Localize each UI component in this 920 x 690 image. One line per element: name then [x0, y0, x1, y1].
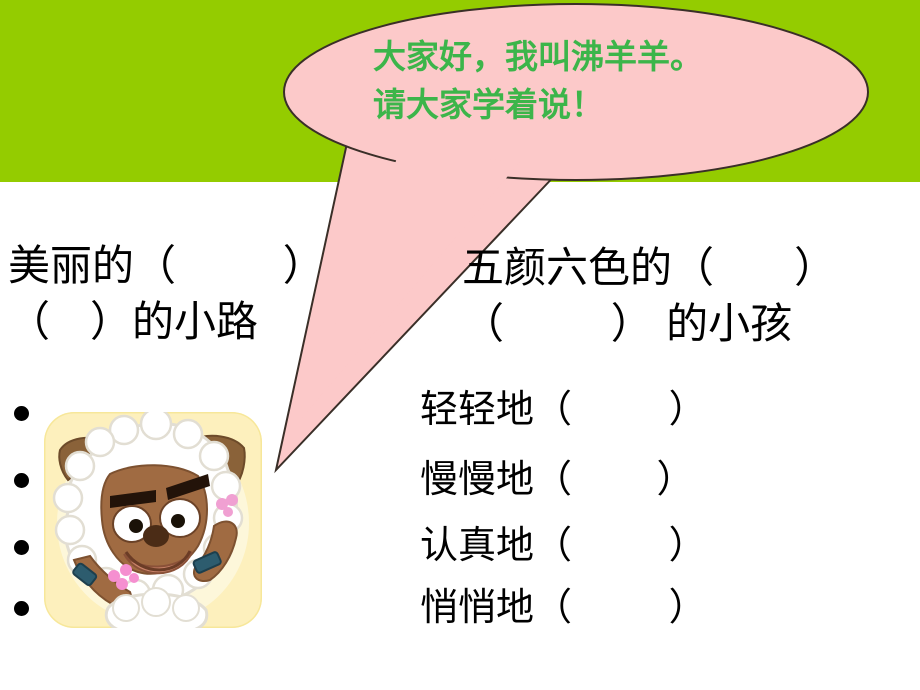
bullet-point: [14, 601, 29, 616]
left-column-line-1: 美丽的（ ）: [8, 238, 325, 294]
adverb-line-3: 认真地（ ）: [420, 518, 707, 572]
bullet-point: [14, 540, 29, 555]
slide-canvas: 大家好，我叫沸羊羊。 请大家学着说！ 美丽的（ ） （ ）的小路 五颜六色的（ …: [0, 0, 920, 690]
sheep-illustration: [38, 408, 268, 632]
adverb-line-4: 悄悄地（ ）: [420, 580, 707, 634]
left-column-line-2: （ ）的小路: [8, 294, 258, 350]
right-column-line-2: （ ） 的小孩: [462, 296, 792, 352]
adverb-line-2: 慢慢地（ ）: [420, 452, 695, 506]
sheep-nose: [143, 525, 169, 547]
balloon-line-2: 请大家学着说！: [373, 81, 843, 129]
sheep-picture: [38, 408, 268, 632]
speech-balloon-text: 大家好，我叫沸羊羊。 请大家学着说！: [373, 33, 843, 129]
balloon-line-1: 大家好，我叫沸羊羊。: [373, 33, 843, 81]
right-column-line-1: 五颜六色的（ ）: [462, 240, 836, 296]
bullet-point: [14, 473, 29, 488]
bullet-point: [14, 406, 29, 421]
adverb-line-1: 轻轻地（ ）: [420, 382, 707, 436]
